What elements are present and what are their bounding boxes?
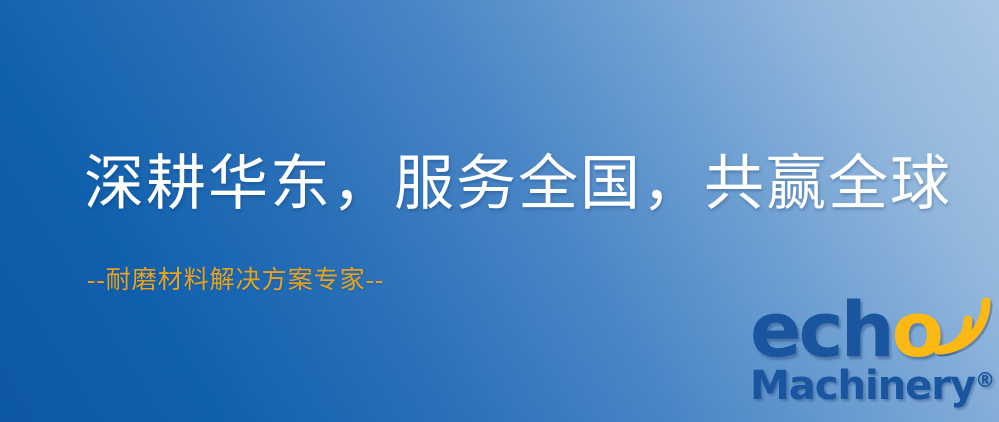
logo-tagline: Machinery® bbox=[750, 366, 995, 406]
logo-wordmark-prefix: ech bbox=[750, 285, 892, 374]
echo-signal-waves-icon bbox=[930, 294, 994, 358]
registered-trademark-icon: ® bbox=[975, 368, 995, 392]
promo-banner: 深耕华东，服务全国，共赢全球 --耐磨材料解决方案专家-- echo Machi… bbox=[0, 0, 999, 422]
logo-wordmark: echo bbox=[750, 292, 941, 368]
banner-headline: 深耕华东，服务全国，共赢全球 bbox=[84, 152, 952, 217]
company-logo[interactable]: echo Machinery® bbox=[742, 292, 994, 417]
logo-tagline-text: Machinery bbox=[750, 363, 975, 409]
banner-subtitle: --耐磨材料解决方案专家-- bbox=[87, 266, 384, 296]
